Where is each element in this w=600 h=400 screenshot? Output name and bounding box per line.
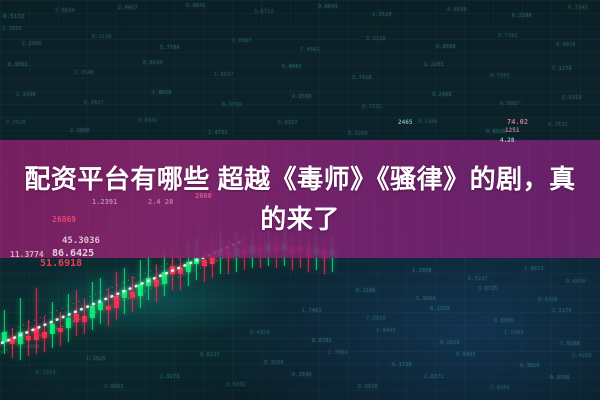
ticker-number: 6.3810 <box>520 363 540 369</box>
ticker-number: 4.4016 <box>556 42 576 48</box>
ticker-number: 9.0043 <box>318 4 338 10</box>
candle-down <box>26 320 31 356</box>
ticker-number: 6.2199 <box>512 13 532 19</box>
ticker-number: 1.5903 <box>504 330 524 336</box>
ticker-number: 0.5172 <box>3 14 25 20</box>
overlay-readout-number: 51.6918 <box>40 258 82 269</box>
ticker-number: 4.7531 <box>548 122 568 128</box>
ticker-number: 8.8294 <box>143 60 163 66</box>
ticker-number: 5.7704 <box>160 45 180 51</box>
ticker-number: 7.8204 <box>490 385 510 391</box>
ticker-number: 3.5269 <box>348 131 368 137</box>
overlay-readout-number: 2465 <box>398 119 412 126</box>
ticker-number: 1.3058 <box>412 268 432 274</box>
ticker-number: 1.8016 <box>152 90 172 96</box>
page-title: 配资平台有哪些 超越《毒师》《骚律》的剧，真的来了 <box>20 159 580 239</box>
ticker-number: 8.3759 <box>222 102 242 108</box>
candle-down <box>34 288 39 354</box>
ticker-number: 8.5032 <box>226 382 246 388</box>
ticker-number: 8.0441 <box>138 118 158 124</box>
banner-image: 0.51721.18937.08342.44170.88413.67129.00… <box>0 0 600 400</box>
ticker-number: 7.0834 <box>55 8 75 14</box>
candle-up <box>90 282 95 330</box>
ticker-number: 7.0268 <box>560 341 580 347</box>
ticker-number: 2.8813 <box>524 266 544 272</box>
overlay-readout-number: 1251 <box>505 127 519 134</box>
overlay-readout-number: 74.02 <box>507 118 528 126</box>
ticker-number: 0.9087 <box>500 101 520 107</box>
candle-up <box>50 302 55 348</box>
candle-up <box>2 310 7 354</box>
ticker-number: 9.1384 <box>418 119 438 125</box>
ticker-number: 2.4417 <box>118 5 138 11</box>
candle-up <box>66 294 71 342</box>
ticker-number: 7.7520 <box>6 120 26 126</box>
ticker-number: 4.8830 <box>447 7 467 13</box>
ticker-number: 2.5174 <box>552 308 572 314</box>
ticker-number: 9.6650 <box>436 44 456 50</box>
ticker-number: 3.0725 <box>478 286 498 292</box>
ticker-number: 5.9604 <box>416 296 436 302</box>
ticker-number: 1.6637 <box>214 72 234 78</box>
ticker-number: 4.1253 <box>430 306 450 312</box>
ticker-number: 1.9276 <box>160 374 180 380</box>
ticker-number: 2.2095 <box>22 41 42 47</box>
ticker-number: 3.8862 <box>104 384 124 390</box>
ticker-number: 9.4470 <box>566 279 586 285</box>
ticker-number: 9.8066 <box>494 318 514 324</box>
ticker-number: 1.1893 <box>2 26 22 32</box>
ticker-number: 5.0962 <box>282 64 302 70</box>
ticker-number: 8.6338 <box>538 297 558 303</box>
candle-up <box>146 256 151 300</box>
ticker-number: 0.5583 <box>490 73 510 79</box>
ticker-number: 3.7418 <box>352 75 372 81</box>
candle-down <box>130 276 135 312</box>
candle-down <box>154 264 159 302</box>
ticker-number: 0.7782 <box>498 33 518 39</box>
ticker-number: 0.3756 <box>550 375 570 381</box>
candle-down <box>114 272 119 320</box>
overlay-readout-number: 11.3774 <box>10 250 44 259</box>
ticker-number: 6.5247 <box>468 276 488 282</box>
ticker-number: 6.8107 <box>278 120 298 126</box>
candle-down <box>10 328 15 358</box>
ticker-number: 9.7231 <box>362 104 382 110</box>
ticker-number: 9.0918 <box>358 384 378 390</box>
ticker-number: 7.4561 <box>300 47 320 53</box>
ticker-number: 6.9031 <box>8 62 28 68</box>
ticker-number: 1.0387 <box>232 38 252 44</box>
ticker-number: 2.9340 <box>16 92 36 98</box>
ticker-number: 6.7319 <box>36 370 56 376</box>
candle-up <box>18 298 23 360</box>
ticker-number: 2.6371 <box>424 374 444 380</box>
ticker-number: 6.4827 <box>84 100 104 106</box>
ticker-number: 3.6712 <box>254 9 274 15</box>
ticker-number: 0.8841 <box>186 3 206 9</box>
ticker-number: 2.1548 <box>74 70 94 76</box>
ticker-number: 0.3345 <box>568 5 588 11</box>
ticker-number: 1.4752 <box>208 130 228 136</box>
ticker-number: 7.1174 <box>552 66 572 72</box>
ticker-number: 1.5520 <box>372 12 392 18</box>
ticker-number: 8.2615 <box>440 340 460 346</box>
ticker-number: 3.4159 <box>572 353 592 359</box>
ticker-number: 4.0598 <box>292 94 312 100</box>
ticker-number: 3.3128 <box>366 36 386 42</box>
ticker-number: 5.6313 <box>562 95 582 101</box>
ticker-number: 3.2465 <box>432 92 452 98</box>
ticker-number: 4.2645 <box>292 372 312 378</box>
ticker-number: 9.2205 <box>424 62 444 68</box>
overlay-readout-number: 4.28 <box>500 137 514 144</box>
candle-down <box>42 316 47 352</box>
ticker-number: 0.8493 <box>456 352 476 358</box>
ticker-number: 0.6920 <box>486 129 506 135</box>
ticker-number: 2.3896 <box>70 128 90 134</box>
ticker-number: 8.1126 <box>92 34 112 40</box>
